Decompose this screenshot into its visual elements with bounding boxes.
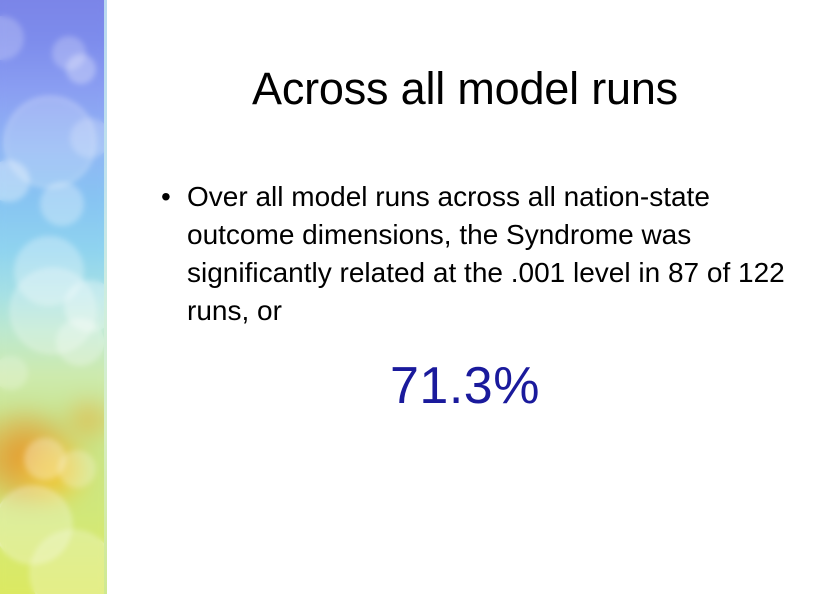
presentation-slide: Across all model runs • Over all model r…: [0, 0, 823, 594]
decorative-sidebar-band: [0, 0, 104, 594]
bullet-point-icon: •: [155, 178, 187, 216]
list-item: • Over all model runs across all nation-…: [155, 178, 800, 330]
bullet-item-text: Over all model runs across all nation-st…: [187, 178, 800, 330]
highlight-statistic: 71.3%: [107, 355, 823, 417]
slide-title: Across all model runs: [107, 62, 823, 116]
bullet-list: • Over all model runs across all nation-…: [155, 178, 800, 330]
blur-overlay: [0, 0, 104, 594]
slide-content: Across all model runs • Over all model r…: [107, 0, 823, 594]
